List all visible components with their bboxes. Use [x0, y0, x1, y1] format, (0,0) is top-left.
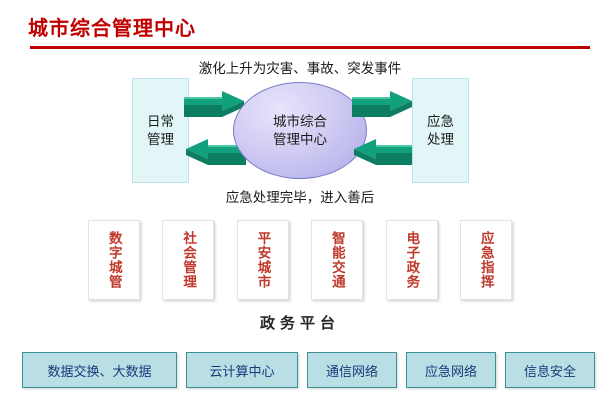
arrow-left-lower-right — [352, 139, 414, 165]
domain-application-row: 数字城管 社会管理 平安城市 智能交通 电子政务 应急指挥 — [88, 220, 512, 300]
side-box-emergency-line2: 处理 — [427, 132, 454, 147]
side-box-daily-label: 日常 管理 — [147, 113, 174, 148]
domain-box[interactable]: 电子政务 — [386, 220, 438, 300]
center-node-label: 城市综合 管理中心 — [273, 113, 327, 148]
cycle-diagram: 激化上升为灾害、事故、突发事件 日常 管理 城市综合 管理中心 — [120, 55, 480, 210]
domain-box[interactable]: 平安城市 — [237, 220, 289, 300]
flow-caption-escalation: 激化上升为灾害、事故、突发事件 — [120, 57, 480, 77]
domain-label: 数字城管 — [107, 231, 121, 289]
title-divider — [30, 46, 590, 49]
infrastructure-box[interactable]: 应急网络 — [406, 352, 496, 388]
side-box-daily-management[interactable]: 日常 管理 — [132, 78, 189, 183]
platform-caption: 政务平台 — [0, 312, 600, 333]
side-box-emergency-line1: 应急 — [427, 114, 454, 129]
infrastructure-row: 数据交换、大数据 云计算中心 通信网络 应急网络 信息安全 — [22, 352, 578, 388]
domain-label: 社会管理 — [182, 231, 196, 289]
domain-label: 电子政务 — [405, 231, 419, 289]
domain-box[interactable]: 智能交通 — [311, 220, 363, 300]
infrastructure-box[interactable]: 云计算中心 — [186, 352, 298, 388]
domain-label: 应急指挥 — [479, 231, 493, 289]
center-node-line1: 城市综合 — [273, 114, 327, 129]
side-box-daily-line1: 日常 — [147, 114, 174, 129]
infrastructure-box[interactable]: 通信网络 — [307, 352, 397, 388]
infrastructure-box[interactable]: 信息安全 — [505, 352, 595, 388]
flow-caption-recovery: 应急处理完毕，进入善后 — [120, 186, 480, 206]
domain-label: 智能交通 — [330, 231, 344, 289]
page-title: 城市综合管理中心 — [28, 12, 196, 41]
domain-box[interactable]: 数字城管 — [88, 220, 140, 300]
arrow-right-upper-right — [352, 91, 414, 117]
side-box-emergency-label: 应急 处理 — [427, 113, 454, 148]
domain-box[interactable]: 社会管理 — [162, 220, 214, 300]
center-node-line2: 管理中心 — [273, 132, 327, 147]
domain-box[interactable]: 应急指挥 — [460, 220, 512, 300]
side-box-daily-line2: 管理 — [147, 132, 174, 147]
side-box-emergency-response[interactable]: 应急 处理 — [412, 78, 469, 183]
infrastructure-box[interactable]: 数据交换、大数据 — [22, 352, 177, 388]
center-node-ellipse[interactable]: 城市综合 管理中心 — [233, 82, 367, 179]
domain-label: 平安城市 — [256, 231, 270, 289]
